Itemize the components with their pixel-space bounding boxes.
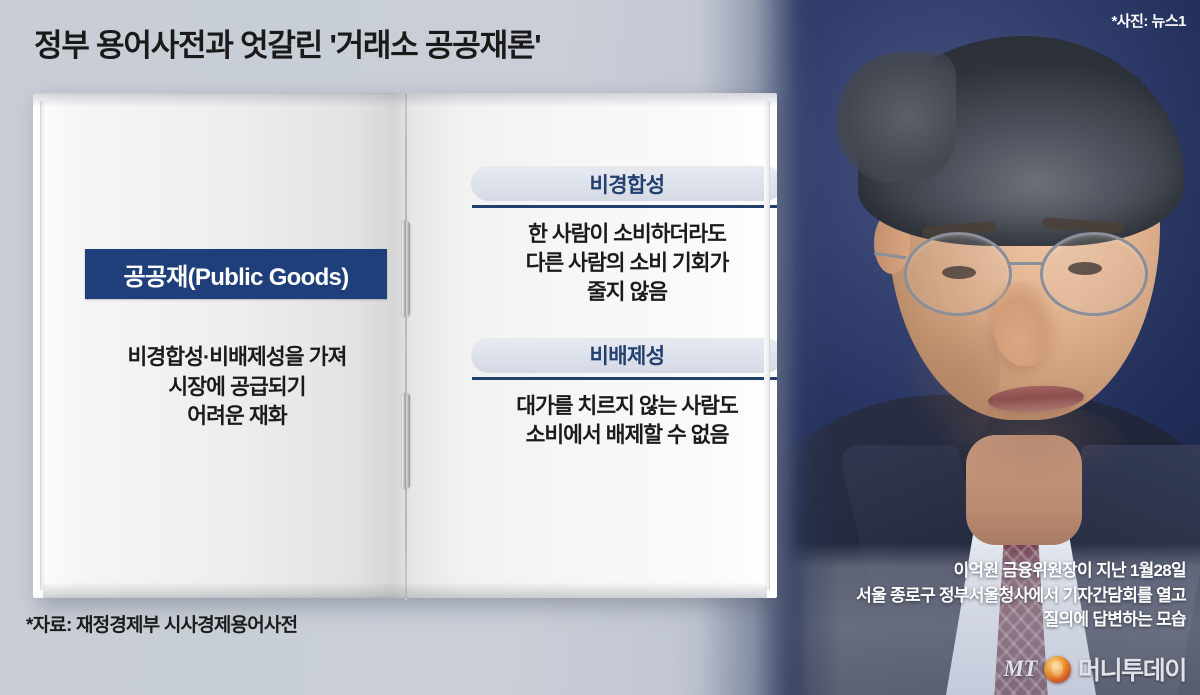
page-title: 정부 용어사전과 엇갈린 '거래소 공공재론' [34,20,540,65]
chin-shadow [938,404,1128,484]
attribute-block-non-rivalry: 비경합성 한 사람이 소비하더라도 다른 사람의 소비 기회가 줄지 않음 [471,93,777,308]
term-description-line-1: 비경합성·비배제성을 가져 [81,343,393,373]
book-page-right: 비경합성 한 사람이 소비하더라도 다른 사람의 소비 기회가 줄지 않음 비배… [395,93,777,598]
hair [858,36,1184,246]
attribute-line-1: 대가를 치르지 않는 사람도 [471,392,777,421]
attribute-line-2: 다른 사람의 소비 기회가 [471,249,777,278]
attribute-rule [472,205,777,208]
source-note: *자료: 재정경제부 시사경제용어사전 [26,610,297,637]
right-page-content: 비경합성 한 사람이 소비하더라도 다른 사람의 소비 기회가 줄지 않음 비배… [471,93,777,450]
photo-caption: 이억원 금융위원장이 지난 1월28일 서울 종로구 정부서울청사에서 기자간담… [856,559,1186,633]
term-description: 비경합성·비배제성을 가져 시장에 공급되기 어려운 재화 [81,343,393,432]
attribute-line-2: 소비에서 배제할 수 없음 [471,421,777,450]
term-description-line-2: 시장에 공급되기 [81,373,393,403]
left-page-content: 공공재(Public Goods) 비경합성·비배제성을 가져 시장에 공급되기… [67,93,393,432]
attribute-text-non-rivalry: 한 사람이 소비하더라도 다른 사람의 소비 기회가 줄지 않음 [471,220,777,308]
binding-staple-top [402,221,410,317]
publisher-logo: MT 머니투데이 [1003,651,1186,687]
spine-fold-line [405,91,407,600]
attribute-text-non-excludability: 대가를 치르지 않는 사람도 소비에서 배제할 수 없음 [471,392,777,450]
attribute-title-non-rivalry: 비경합성 [471,166,777,201]
book-spine [402,91,410,600]
attribute-block-non-excludability: 비배제성 대가를 치르지 않는 사람도 소비에서 배제할 수 없음 [471,308,777,450]
logo-emblem-icon [1044,656,1071,683]
photo-caption-line-3: 질의에 답변하는 모습 [856,608,1186,633]
logo-initials: MT [1003,656,1037,682]
binding-staple-bottom [402,393,410,489]
logo-wordmark: 머니투데이 [1078,651,1186,687]
term-banner: 공공재(Public Goods) [85,249,387,299]
book-page-left: 공공재(Public Goods) 비경합성·비배제성을 가져 시장에 공급되기… [33,93,415,598]
attribute-line-3: 줄지 않음 [471,278,777,307]
lens-right [1040,232,1148,316]
open-book-graphic: 공공재(Public Goods) 비경합성·비배제성을 가져 시장에 공급되기… [33,93,777,598]
nose [994,282,1056,366]
photo-credit: *사진: 뉴스1 [1111,10,1186,31]
attribute-line-1: 한 사람이 소비하더라도 [471,220,777,249]
term-description-line-3: 어려운 재화 [81,402,393,432]
attribute-title-non-excludability: 비배제성 [471,338,777,373]
glasses-bridge [1010,262,1044,265]
photo-caption-line-2: 서울 종로구 정부서울청사에서 기자간담회를 열고 [856,584,1186,609]
photo-caption-line-1: 이억원 금융위원장이 지난 1월28일 [856,559,1186,584]
infographic-root: 정부 용어사전과 엇갈린 '거래소 공공재론' *사진: 뉴스1 공공재(Pub… [0,0,1200,695]
attribute-rule [472,377,777,380]
